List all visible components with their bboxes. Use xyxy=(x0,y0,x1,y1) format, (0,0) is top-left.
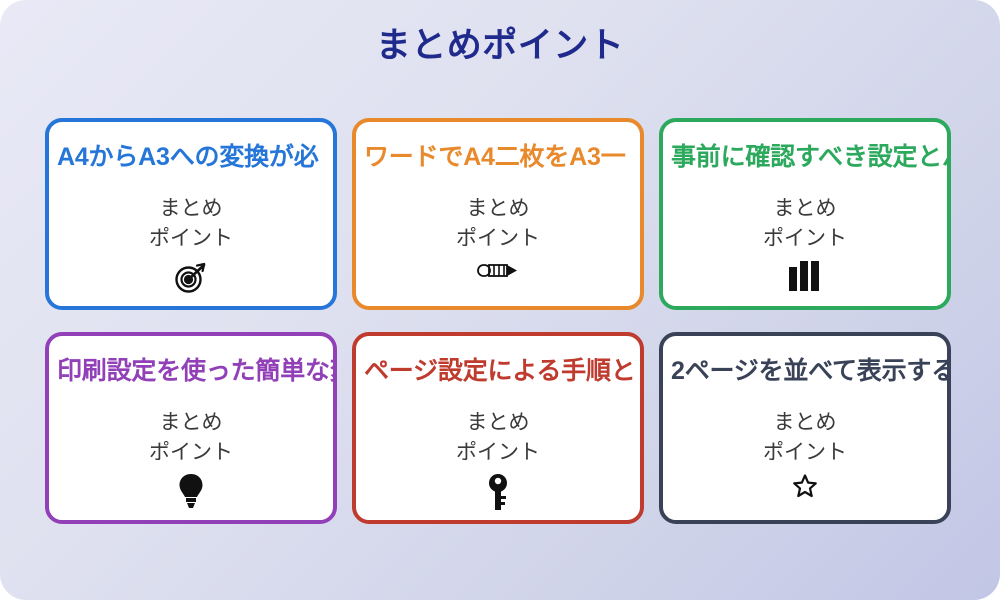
page-title: まとめポイント xyxy=(0,24,1000,68)
summary-card[interactable]: ページ設定による手順とレ まとめ ポイント xyxy=(352,332,644,524)
card-body-text: まとめ ポイント xyxy=(663,194,947,254)
star-icon xyxy=(663,473,947,499)
pencil-icon xyxy=(356,259,640,281)
card-body-text: まとめ ポイント xyxy=(663,408,947,468)
card-title: 2ページを並べて表示する xyxy=(671,358,951,386)
light-bulb-icon xyxy=(49,473,333,509)
card-title: 印刷設定を使った簡単な変 xyxy=(57,358,337,386)
dart-target-icon xyxy=(49,259,333,295)
card-title: ワードでA4二枚をA3一 xyxy=(364,144,644,172)
summary-card[interactable]: 事前に確認すべき設定とバ まとめ ポイント xyxy=(659,118,951,310)
card-title: A4からA3への変換が必 xyxy=(57,144,337,172)
summary-card[interactable]: 印刷設定を使った簡単な変 まとめ ポイント xyxy=(45,332,337,524)
key-icon xyxy=(356,473,640,511)
summary-card[interactable]: 2ページを並べて表示する まとめ ポイント xyxy=(659,332,951,524)
card-body-text: まとめ ポイント xyxy=(49,194,333,254)
card-body-text: まとめ ポイント xyxy=(356,408,640,468)
slide-canvas: まとめポイント A4からA3への変換が必 まとめ ポイント ワードでA4二枚をA… xyxy=(0,0,1000,600)
summary-card-grid: A4からA3への変換が必 まとめ ポイント ワードでA4二枚をA3一 まとめ ポ… xyxy=(45,118,957,524)
card-body-text: まとめ ポイント xyxy=(49,408,333,468)
card-body-text: まとめ ポイント xyxy=(356,194,640,254)
summary-card[interactable]: ワードでA4二枚をA3一 まとめ ポイント xyxy=(352,118,644,310)
card-title: 事前に確認すべき設定とバ xyxy=(671,144,951,172)
summary-card[interactable]: A4からA3への変換が必 まとめ ポイント xyxy=(45,118,337,310)
bar-chart-icon xyxy=(663,259,947,293)
card-title: ページ設定による手順とレ xyxy=(364,358,644,386)
